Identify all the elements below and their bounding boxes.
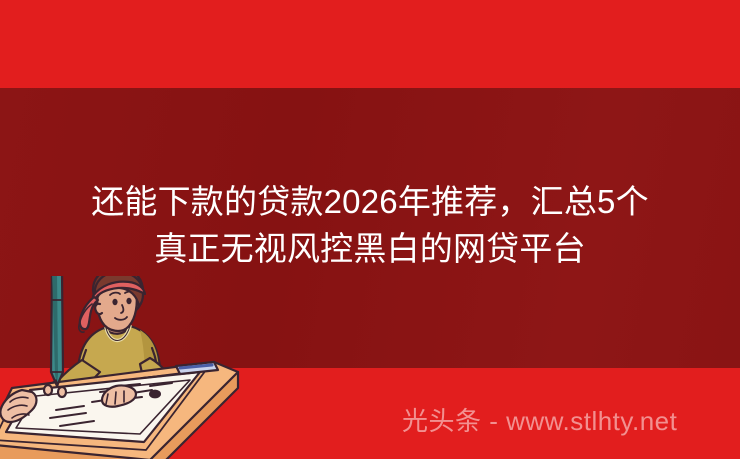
finger-line-2 [115,392,116,404]
bandana-tail-1 [80,297,98,329]
eye-right [126,298,131,304]
person-writing-illustration [0,276,250,459]
headline-line-1: 还能下款的贷款2026年推荐，汇总5个 [0,178,740,225]
thumb-tip [44,385,52,395]
page-title: 还能下款的贷款2026年推荐，汇总5个 真正无视风控黑白的网贷平台 [0,178,740,272]
paper-ink-blob [149,390,161,399]
article-cover-image: 还能下款的贷款2026年推荐，汇总5个 真正无视风控黑白的网贷平台 光头条 - … [0,0,740,459]
pen [51,276,63,386]
headline-line-2: 真正无视风控黑白的网贷平台 [0,225,740,272]
site-watermark: 光头条 - www.stlhty.net [402,404,677,438]
background-band-top [0,0,740,88]
eye-left [112,299,117,305]
finger-tip [58,387,66,397]
